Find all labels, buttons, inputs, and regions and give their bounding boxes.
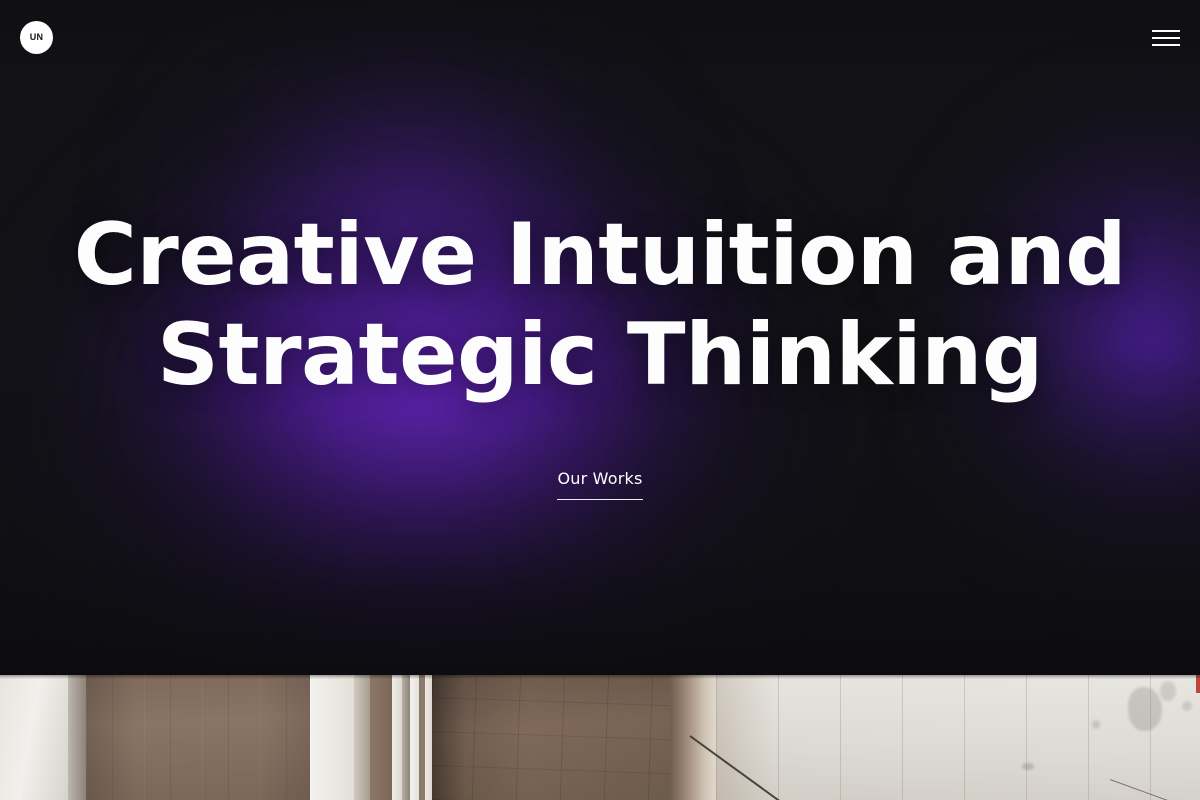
logo-button[interactable]: UN (20, 21, 53, 54)
hamburger-bar-middle (1152, 37, 1180, 39)
photo-column-3 (370, 675, 392, 800)
photo-column-4 (392, 675, 402, 800)
photo-wall-mark-e (1092, 720, 1100, 729)
photo-panel-left-white (0, 675, 68, 800)
photo-wall-mark-b (1160, 681, 1176, 701)
hero-cta-wrapper: Our Works (557, 470, 642, 501)
logo-initials: UN (30, 33, 43, 42)
photo-column-1 (310, 675, 354, 800)
photo-panel-wood-dark (432, 675, 670, 800)
photo-column-8 (425, 675, 432, 800)
hero-glow-secondary (870, 60, 1200, 675)
hero-section (0, 0, 1200, 675)
photo-panel-left-shadow (68, 675, 86, 800)
hamburger-bar-top (1152, 30, 1180, 32)
hero-photo-strip (0, 675, 1200, 800)
photo-scene (0, 675, 1200, 800)
our-works-link[interactable]: Our Works (557, 470, 642, 501)
photo-panel-wood-light (86, 675, 310, 800)
photo-column-5 (402, 675, 410, 800)
hero-vignette (0, 0, 1200, 675)
photo-panel-right-white (716, 675, 1200, 800)
photo-wall-mark-a (1128, 687, 1162, 731)
hero-glow-primary (0, 0, 960, 675)
landing-page: UN Creative Intuition and Strategic Thin… (0, 0, 1200, 800)
hamburger-menu-icon[interactable] (1148, 24, 1180, 52)
photo-column-6 (410, 675, 419, 800)
photo-red-edge-sliver (1196, 675, 1200, 693)
photo-wall-mark-d (1022, 763, 1034, 770)
photo-wall-mark-c (1182, 701, 1192, 711)
hamburger-bar-bottom (1152, 44, 1180, 46)
photo-column-2 (354, 675, 370, 800)
top-navigation-bar: UN (0, 0, 1200, 76)
